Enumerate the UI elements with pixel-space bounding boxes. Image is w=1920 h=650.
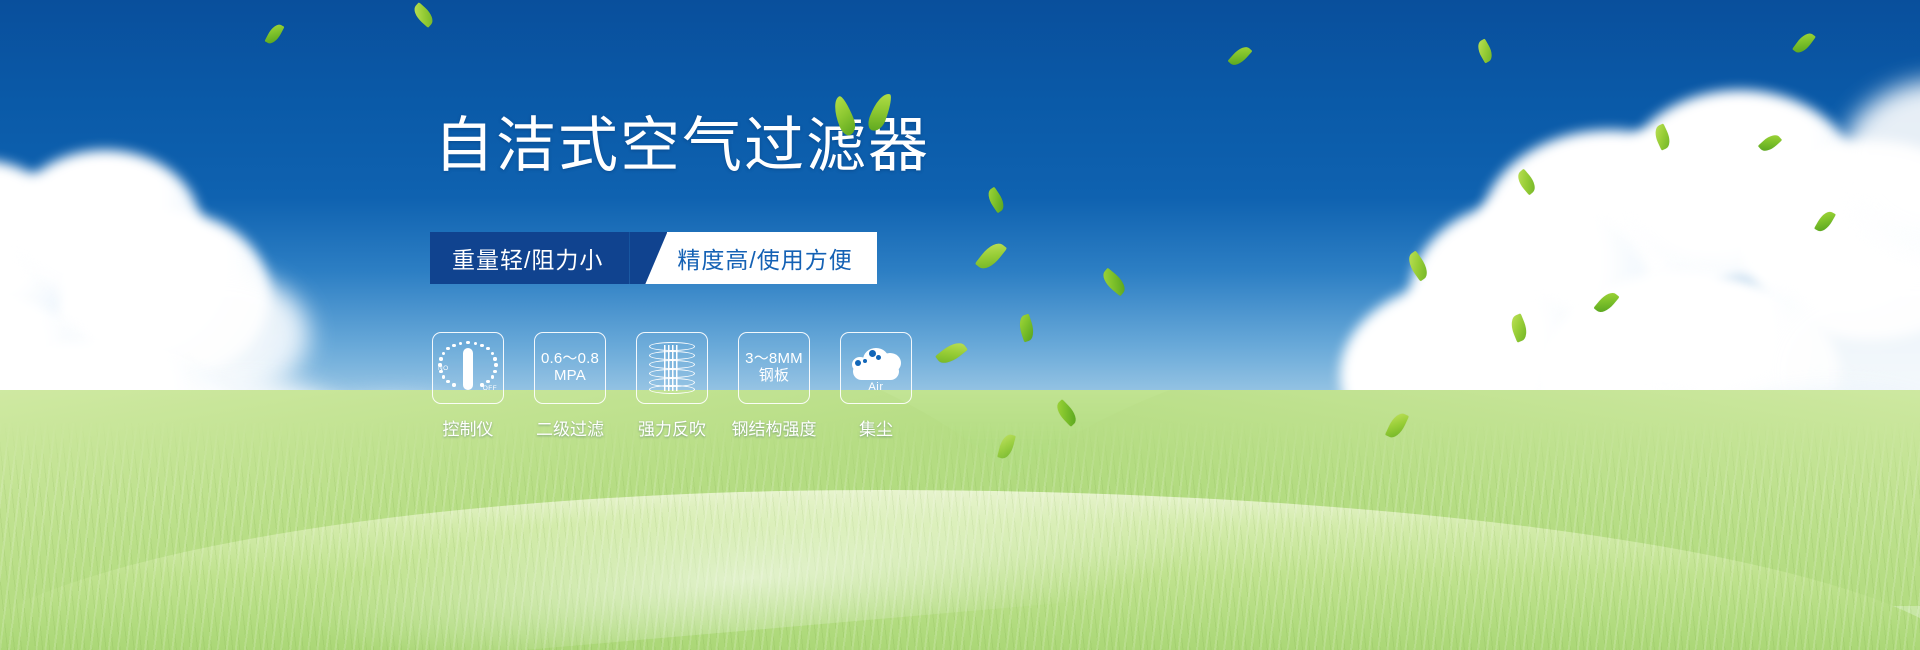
pressure-text-icon: 0.6～0.8 MPA — [539, 351, 601, 385]
gauge-off-label: OFF — [483, 385, 497, 392]
feature-box-dust: Air — [840, 332, 912, 404]
feature-item-dust[interactable]: Air 集尘 — [840, 332, 912, 440]
feature-label-blowback: 强力反吹 — [638, 415, 706, 440]
feature-item-blowback[interactable]: 强力反吹 — [636, 332, 708, 440]
gauge-on-label: NO — [438, 365, 449, 372]
leaf-icon — [829, 94, 859, 137]
coil-spring-icon — [649, 342, 695, 394]
feature-label-dust: 集尘 — [859, 415, 893, 440]
subtitle-tags: 重量轻/阻力小 精度高/使用方便 — [430, 232, 877, 284]
feature-list: NO OFF 控制仪 0.6～0.8 MPA 二级过滤 — [432, 332, 912, 440]
control-gauge-icon: NO OFF — [438, 339, 498, 397]
feature-label-control: 控制仪 — [443, 415, 494, 440]
subtitle-tag-divider — [629, 232, 667, 284]
feature-item-control[interactable]: NO OFF 控制仪 — [432, 332, 504, 440]
feature-box-blowback — [636, 332, 708, 404]
feature-box-control: NO OFF — [432, 332, 504, 404]
steel-plate-text-icon: 3～8MM 钢板 — [743, 351, 805, 385]
title-leaf-decoration — [828, 88, 902, 140]
gauge-needle — [463, 348, 473, 390]
feature-item-pressure[interactable]: 0.6～0.8 MPA 二级过滤 — [534, 332, 606, 440]
subtitle-tag-right: 精度高/使用方便 — [667, 232, 876, 284]
leaf-icon — [866, 90, 895, 133]
subtitle-tag-divider-slant — [629, 232, 667, 284]
subtitle-tag-left: 重量轻/阻力小 — [430, 232, 629, 284]
feature-label-pressure: 二级过滤 — [536, 415, 604, 440]
grass-field — [0, 390, 1920, 650]
feature-label-steel: 钢结构强度 — [732, 415, 817, 440]
hero-banner: 自洁式空气过滤器 重量轻/阻力小 精度高/使用方便 — [0, 0, 1920, 650]
cloud-air-label: Air — [849, 381, 903, 393]
feature-box-steel: 3～8MM 钢板 — [738, 332, 810, 404]
cloud-air-icon: Air — [849, 346, 903, 390]
feature-box-pressure: 0.6～0.8 MPA — [534, 332, 606, 404]
feature-item-steel[interactable]: 3～8MM 钢板 钢结构强度 — [738, 332, 810, 440]
cloud-base — [853, 363, 899, 380]
